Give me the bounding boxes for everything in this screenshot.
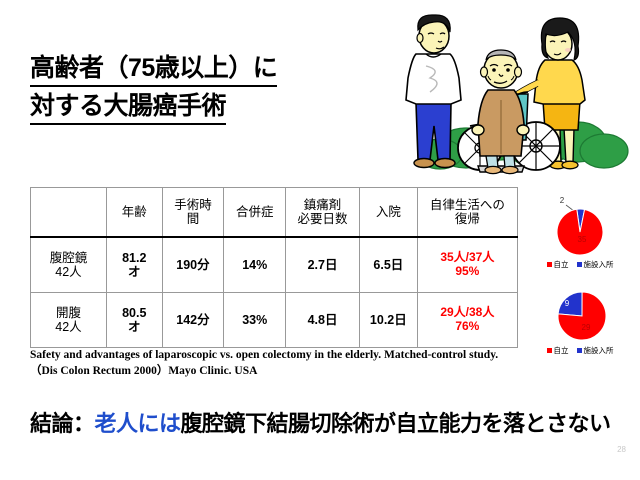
reference-citation: Safety and advantages of laparoscopic vs… (30, 348, 530, 379)
age-value: 81.2 (122, 251, 146, 265)
legend-item-institution: 施設入所 (577, 345, 614, 356)
header-line-2: 間 (187, 212, 200, 226)
ratio-value: 35人/37人 (440, 250, 494, 264)
cell-hospital-stay: 10.2日 (360, 293, 418, 348)
pie-legend: 自立 施設入所 (520, 259, 640, 270)
row-label-open: 開腹 42人 (31, 293, 107, 348)
table-header-age: 年齢 (106, 188, 162, 238)
age-value: 80.5 (122, 306, 146, 320)
table-header-return-to-independence: 自律生活への 復帰 (417, 188, 517, 238)
row-label-line-2: 42人 (55, 265, 81, 279)
open-colectomy-outcome-pie-chart: 9 29 自立 施設入所 (520, 278, 640, 356)
header-line-1: 手術時 (174, 198, 212, 212)
row-label-laparoscopic: 腹腔鏡 42人 (31, 237, 107, 293)
legend-swatch-red-icon (547, 262, 552, 267)
legend-item-independent: 自立 (547, 259, 569, 270)
age-unit: オ (128, 320, 141, 334)
pie-slice-施設入所 (558, 292, 582, 316)
ratio-value: 29人/38人 (440, 305, 494, 319)
legend-swatch-blue-icon (577, 262, 582, 267)
legend-item-independent: 自立 (547, 345, 569, 356)
page-title: 高齢者（75歳以上）に 対する大腸癌手術 (30, 52, 360, 125)
pie-slices (557, 209, 603, 255)
legend-swatch-red-icon (547, 348, 552, 353)
pie-slice-value-label-red: 29 (582, 323, 591, 332)
cell-analgesic-days: 4.8日 (286, 293, 360, 348)
pie-legend: 自立 施設入所 (520, 345, 640, 356)
cell-complications: 33% (224, 293, 286, 348)
percent-value: 95% (455, 264, 479, 278)
table-header-analgesic-days: 鎮痛剤 必要日数 (286, 188, 360, 238)
page-number: 28 (617, 445, 626, 454)
conclusion-highlight: 老人には (95, 411, 181, 436)
legend-swatch-blue-icon (577, 348, 582, 353)
percent-value: 76% (455, 319, 479, 333)
legend-label: 施設入所 (584, 345, 614, 356)
cell-age: 80.5 オ (106, 293, 162, 348)
cell-operation-time: 142分 (162, 293, 224, 348)
page-title-line-2: 対する大腸癌手術 (30, 90, 226, 125)
row-label-line-1: 開腹 (56, 306, 81, 320)
row-label-line-2: 42人 (55, 320, 81, 334)
cell-analgesic-days: 2.7日 (286, 237, 360, 293)
laparoscopic-outcome-pie-chart: 2 35 自立 施設入所 (520, 192, 640, 270)
table-header-complications: 合併症 (224, 188, 286, 238)
conclusion-suffix: 腹腔鏡下結腸切除術が自立能力を落とさない (181, 411, 611, 436)
table-row: 腹腔鏡 42人 81.2 オ 190分 14% 2.7日 6.5日 35人/37… (31, 237, 518, 293)
legend-item-institution: 施設入所 (577, 259, 614, 270)
header-line-1: 自律生活への (430, 198, 505, 212)
row-label-line-1: 腹腔鏡 (50, 251, 88, 265)
conclusion-text: 結論：老人には腹腔鏡下結腸切除術が自立能力を落とさない (30, 406, 611, 438)
pie-callout-label: 2 (560, 196, 565, 205)
cell-return-to-independence: 29人/38人 76% (417, 293, 517, 348)
header-line-2: 必要日数 (298, 212, 348, 226)
cell-operation-time: 190分 (162, 237, 224, 293)
elderly-care-illustration (388, 8, 636, 180)
pie-slice-value-label-blue: 9 (565, 299, 570, 308)
legend-label: 自立 (554, 345, 569, 356)
header-line-1: 鎮痛剤 (304, 198, 342, 212)
table-header-operation-time: 手術時 間 (162, 188, 224, 238)
table-header-hospital-stay: 入院 (360, 188, 418, 238)
cell-return-to-independence: 35人/37人 95% (417, 237, 517, 293)
conclusion-prefix: 結論： (30, 411, 95, 436)
page-title-line-1: 高齢者（75歳以上）に (30, 52, 277, 87)
results-table: 年齢 手術時 間 合併症 鎮痛剤 必要日数 入院 自律生活への 復帰 腹腔鏡 4… (30, 187, 518, 348)
table-header-row: 年齢 手術時 間 合併症 鎮痛剤 必要日数 入院 自律生活への 復帰 (31, 188, 518, 238)
cell-age: 81.2 オ (106, 237, 162, 293)
cell-hospital-stay: 6.5日 (360, 237, 418, 293)
cell-complications: 14% (224, 237, 286, 293)
legend-label: 施設入所 (584, 259, 614, 270)
table-header-blank (31, 188, 107, 238)
legend-label: 自立 (554, 259, 569, 270)
pie-slice-value-label: 35 (578, 235, 587, 244)
reference-line-1: Safety and advantages of laparoscopic vs… (30, 348, 530, 364)
table-row: 開腹 42人 80.5 オ 142分 33% 4.8日 10.2日 29人/38… (31, 293, 518, 348)
reference-line-2: （Dis Colon Rectum 2000）Mayo Clinic. USA (30, 364, 530, 380)
age-unit: オ (128, 265, 141, 279)
header-line-2: 復帰 (455, 212, 480, 226)
